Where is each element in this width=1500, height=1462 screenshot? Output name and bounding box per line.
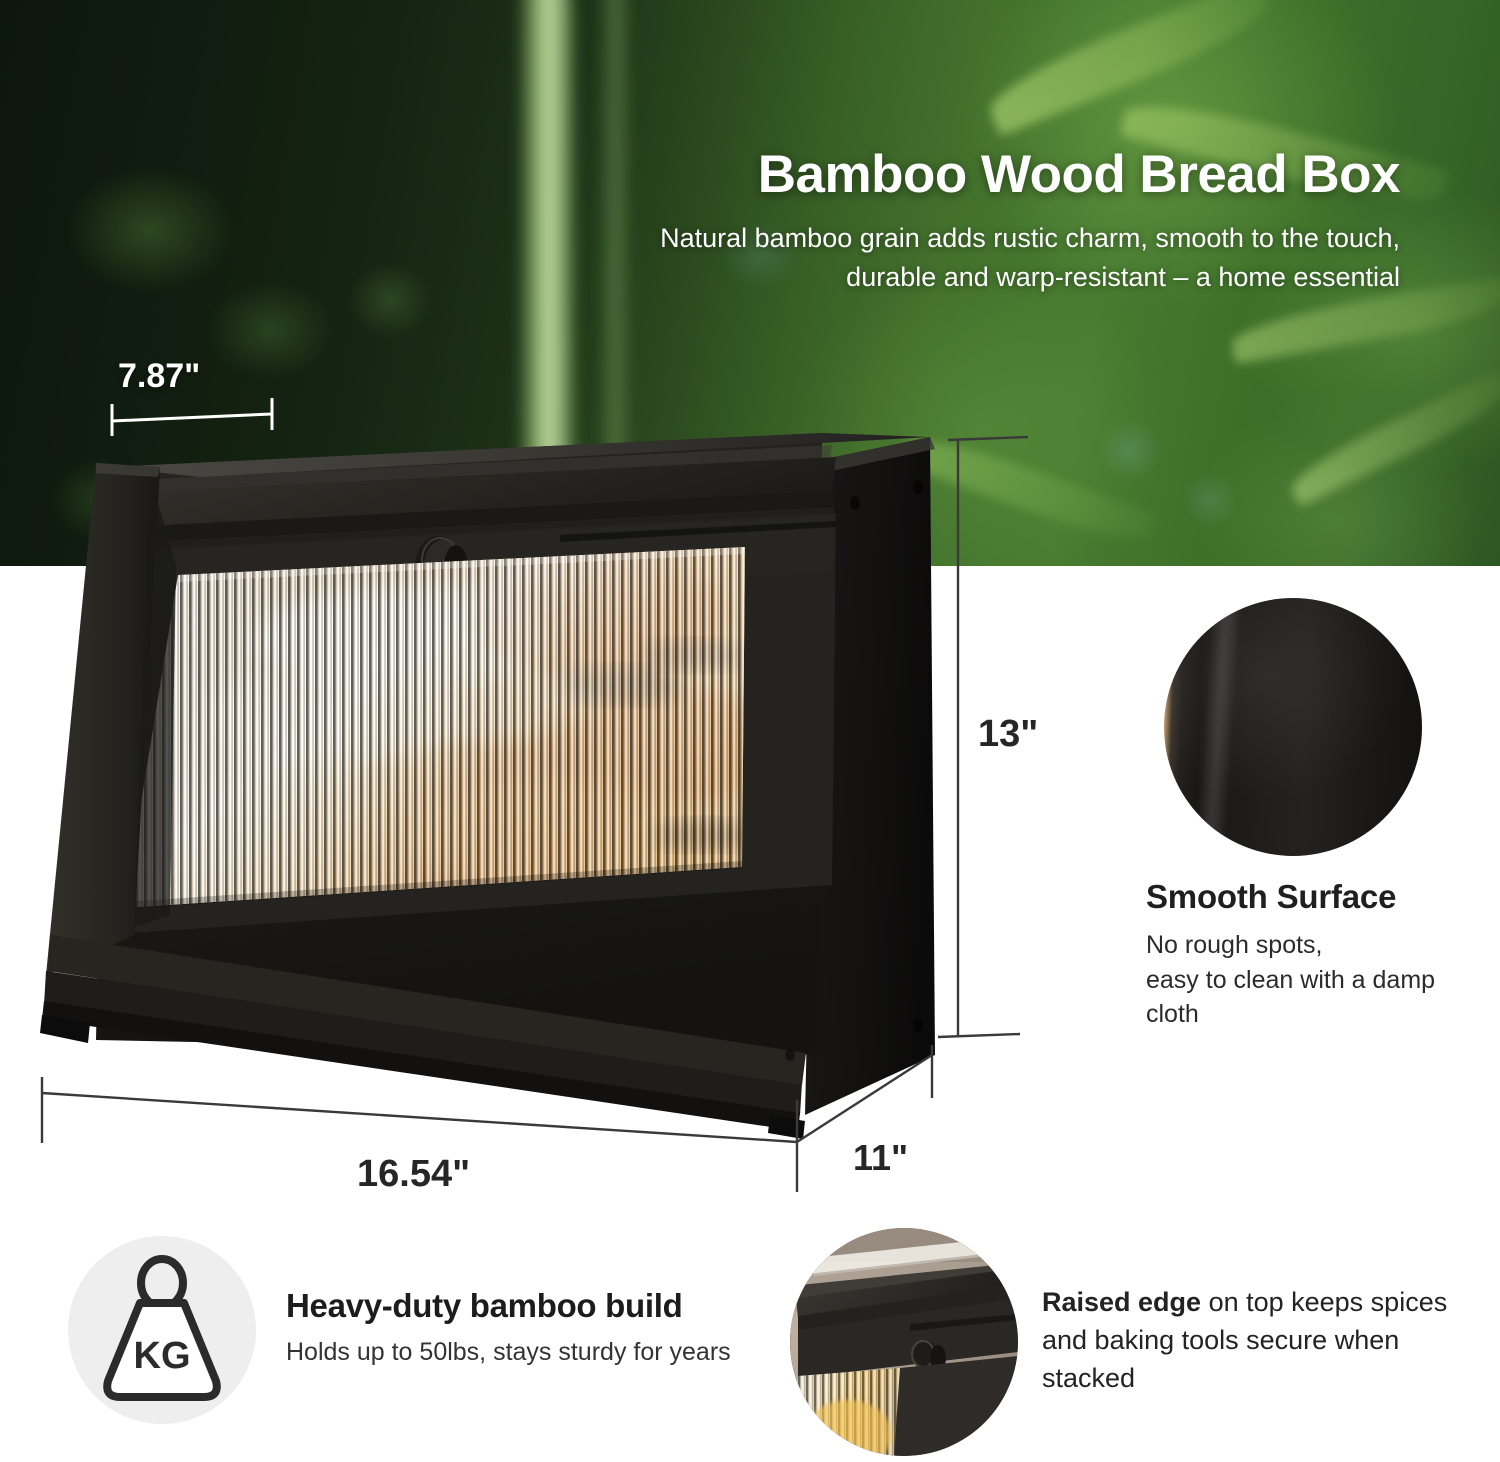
feature-raised-edge-bold: Raised edge: [1042, 1287, 1201, 1317]
infographic-canvas: Bamboo Wood Bread Box Natural bamboo gra…: [0, 0, 1500, 1462]
feature-heavy-duty: KG Heavy-duty bamboo build Holds up to 5…: [68, 1236, 731, 1424]
feature-heavy-duty-description: Holds up to 50lbs, stays sturdy for year…: [286, 1338, 731, 1367]
feature-smooth-surface-desc-line2: easy to clean with a damp cloth: [1146, 963, 1486, 1032]
feature-heavy-duty-title: Heavy-duty bamboo build: [286, 1287, 731, 1325]
feature-smooth-surface-desc-line1: No rough spots,: [1146, 928, 1486, 963]
smooth-surface-closeup-photo: [1164, 598, 1422, 856]
weight-kg-icon: KG: [96, 1255, 228, 1405]
weight-icon-label: KG: [134, 1335, 191, 1377]
feature-smooth-surface: Smooth Surface No rough spots, easy to c…: [1146, 598, 1486, 1032]
weight-icon-bubble: KG: [68, 1236, 256, 1424]
feature-raised-edge-text: Raised edge on top keeps spices and baki…: [1042, 1283, 1478, 1402]
depth-top-dimension-label: 7.87": [118, 357, 200, 396]
height-dimension-label: 13": [978, 713, 1038, 756]
feature-smooth-surface-description: No rough spots, easy to clean with a dam…: [1146, 928, 1486, 1032]
raised-edge-closeup-photo: [790, 1228, 1018, 1456]
bamboo-bread-box-photo: [0, 415, 1000, 1145]
box-foot-right: [768, 1115, 805, 1139]
width-dimension-label: 16.54": [357, 1153, 470, 1196]
depth-dimension-label: 11": [853, 1137, 908, 1179]
feature-raised-edge: Raised edge on top keeps spices and baki…: [790, 1228, 1478, 1456]
feature-smooth-surface-title: Smooth Surface: [1146, 878, 1486, 916]
